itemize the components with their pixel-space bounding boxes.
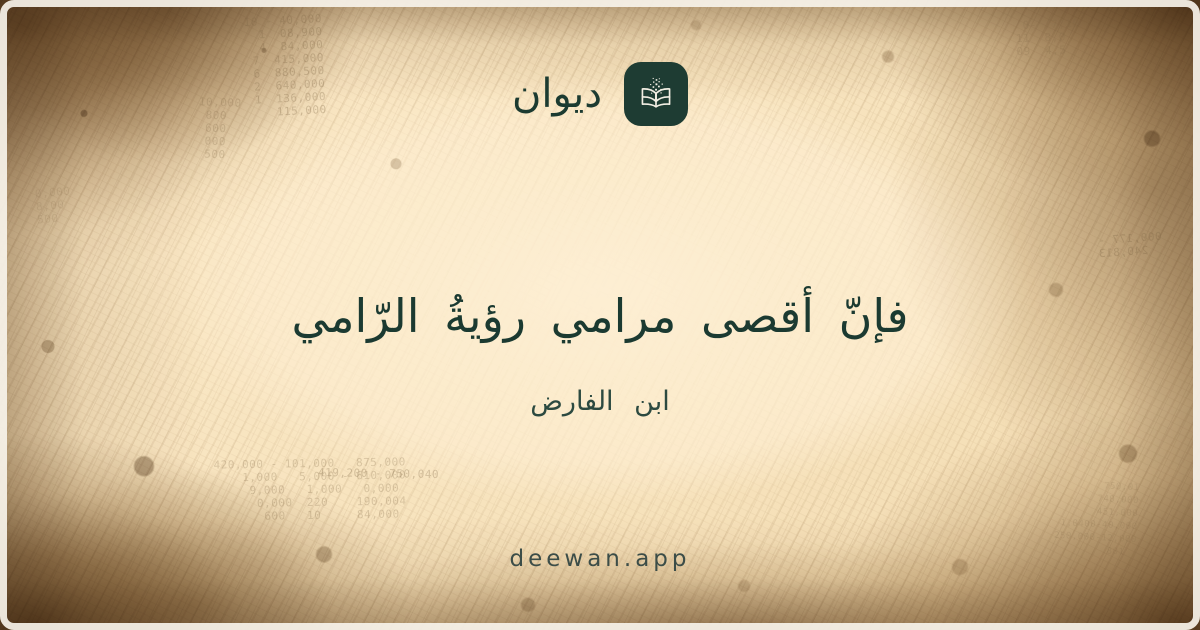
brand-lockup: ديوان xyxy=(512,62,688,126)
card-content: ديوان فإنّ أقصى مرامي رؤيةُ الرّامي ابن … xyxy=(0,0,1200,630)
verse-text: فإنّ أقصى مرامي رؤيةُ الرّامي xyxy=(0,283,1200,350)
share-card: 40,000 - 10 08,900 1 84,000 4 415,000 7 … xyxy=(0,0,1200,630)
author-name: ابن الفارض xyxy=(0,384,1200,419)
brand-name: ديوان xyxy=(512,74,602,114)
open-book-sparkles-icon xyxy=(624,62,688,126)
footer-url: deewan.app xyxy=(0,546,1200,572)
